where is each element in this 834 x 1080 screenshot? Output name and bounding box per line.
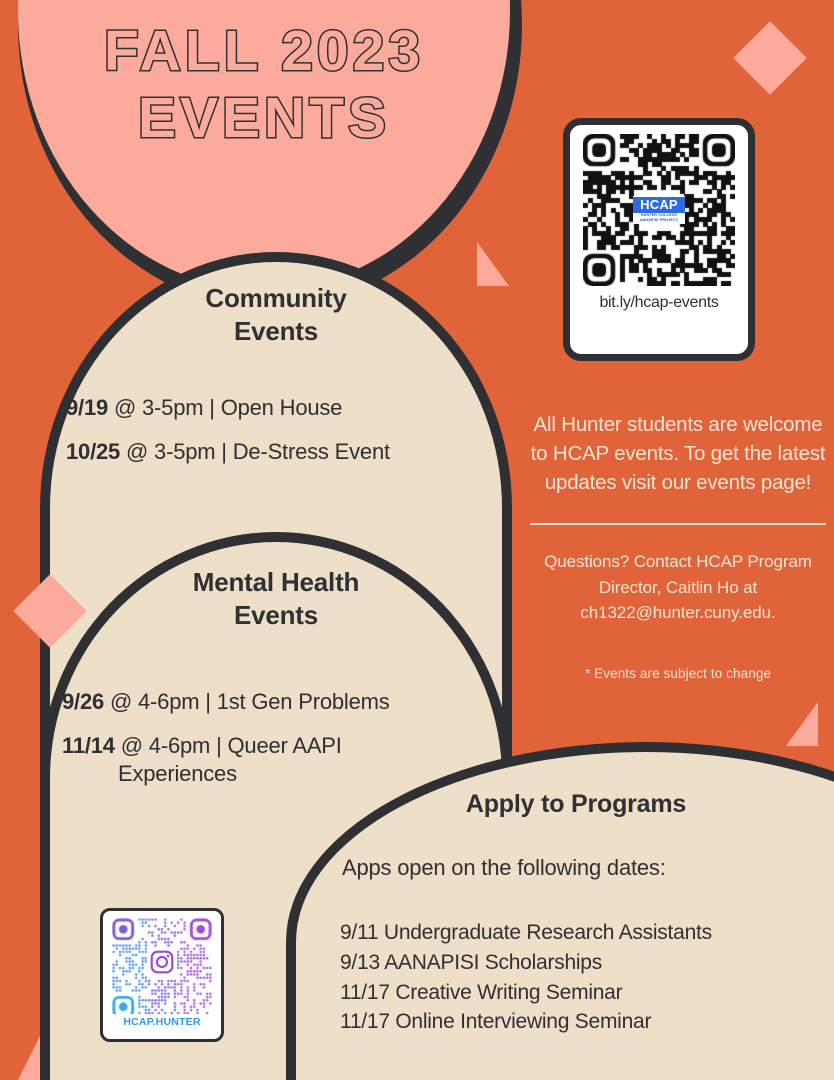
instagram-handle-label: HCAP.HUNTER: [123, 1016, 200, 1028]
mental-health-events-heading: Mental Health Events: [50, 566, 502, 633]
instagram-icon: [147, 947, 177, 977]
event-date: 9/19: [66, 395, 108, 420]
list-item: 9/13 AANAPISI Scholarships: [340, 948, 712, 978]
welcome-text: All Hunter students are welcome to HCAP …: [528, 410, 828, 497]
diamond-top-right: [733, 21, 807, 95]
poster-title: FALL 2023 EVENTS: [18, 18, 510, 151]
list-item: 9/26 @ 4-6pm | 1st Gen Problems: [62, 688, 522, 716]
event-detail: @ 4-6pm | Queer AAPI: [121, 733, 342, 758]
list-item: 10/25 @ 3-5pm | De-Stress Event: [66, 438, 522, 466]
event-date: 9/26: [62, 689, 104, 714]
title-line-2: EVENTS: [18, 85, 510, 152]
community-heading-line-2: Events: [50, 315, 502, 348]
instagram-qr-code[interactable]: [112, 918, 212, 1014]
events-qr-url-label: bit.ly/hcap-events: [599, 294, 718, 312]
apply-programs-list: 9/11 Undergraduate Research Assistants 9…: [340, 918, 712, 1037]
community-events-list: 9/19 @ 3-5pm | Open House 10/25 @ 3-5pm …: [66, 394, 522, 482]
right-info-column: All Hunter students are welcome to HCAP …: [528, 410, 828, 681]
event-detail: @ 3-5pm | De-Stress Event: [126, 439, 390, 464]
apply-intro-text: Apps open on the following dates:: [342, 855, 666, 881]
triangle-right-lower: [786, 702, 818, 746]
event-detail-continuation: Experiences: [62, 760, 522, 788]
mental-heading-line-1: Mental Health: [50, 566, 502, 599]
hcap-logo: HCAP HUNTER COLLEGE AANAPISI PROJECT: [633, 196, 685, 224]
hcap-logo-subtitle-2: AANAPISI PROJECT: [633, 218, 685, 223]
mental-heading-line-2: Events: [50, 599, 502, 632]
contact-text: Questions? Contact HCAP Program Director…: [528, 549, 828, 626]
list-item: 11/14 @ 4-6pm | Queer AAPI Experiences: [62, 732, 522, 788]
triangle-upper-mid: [477, 242, 509, 286]
event-detail: @ 4-6pm | 1st Gen Problems: [110, 689, 390, 714]
title-line-1: FALL 2023: [18, 18, 510, 85]
divider: [530, 523, 826, 525]
event-detail: @ 3-5pm | Open House: [114, 395, 342, 420]
list-item: 9/19 @ 3-5pm | Open House: [66, 394, 522, 422]
poster-canvas: FALL 2023 EVENTS Community Events 9/19 @…: [0, 0, 834, 1080]
list-item: 11/17 Online Interviewing Seminar: [340, 1007, 712, 1037]
list-item: 11/17 Creative Writing Seminar: [340, 978, 712, 1008]
mental-health-events-list: 9/26 @ 4-6pm | 1st Gen Problems 11/14 @ …: [62, 688, 522, 804]
community-events-heading: Community Events: [50, 282, 502, 349]
events-qr-code[interactable]: HCAP HUNTER COLLEGE AANAPISI PROJECT: [583, 134, 735, 286]
events-qr-card[interactable]: HCAP HUNTER COLLEGE AANAPISI PROJECT bit…: [563, 118, 755, 361]
apply-programs-heading: Apply to Programs: [306, 788, 834, 820]
event-date: 10/25: [66, 439, 120, 464]
disclaimer-text: * Events are subject to change: [528, 666, 828, 681]
hcap-logo-text: HCAP: [633, 197, 685, 213]
community-heading-line-1: Community: [50, 282, 502, 315]
event-date: 11/14: [62, 733, 115, 758]
list-item: 9/11 Undergraduate Research Assistants: [340, 918, 712, 948]
instagram-qr-card[interactable]: HCAP.HUNTER: [100, 908, 224, 1042]
